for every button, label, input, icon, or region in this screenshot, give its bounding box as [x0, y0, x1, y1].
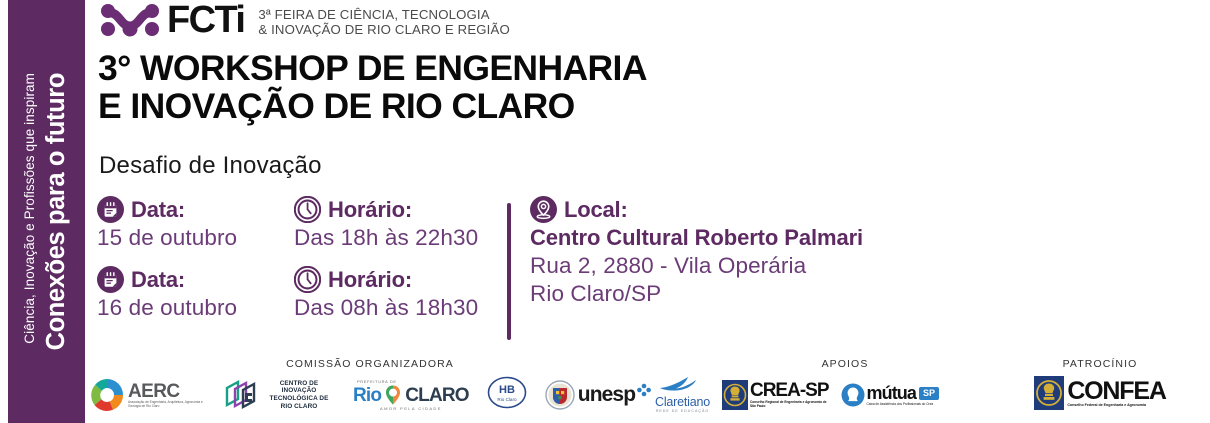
hb-mark-icon: HB Rio Claro [487, 376, 527, 409]
footer-logo-row: AERC Associação de Engenharia, Arquitetu… [85, 376, 655, 414]
mutua-wordmark: mútua [867, 384, 917, 402]
event-address: Rua 2, 2880 - Vila Operária [530, 253, 1050, 279]
brand-row: FCTi 3ª FEIRA DE CIÊNCIA, TECNOLOGIA & I… [99, 2, 510, 40]
mutua-sp-logo: mútua SP Caixa de Assistência dos Profis… [841, 383, 940, 407]
mutua-mark-icon [841, 383, 865, 407]
prefeitura-tagline: AMOR PELA CIDADE [353, 406, 469, 411]
footer-logo-row: CONFEA Conselho Federal de Engenharia e … [990, 376, 1210, 410]
event-time-block: Horário: Das 18h às 22h30 [294, 196, 509, 251]
event-location-column: Local: Centro Cultural Roberto Palmari R… [530, 196, 1050, 307]
footer-caption: PATROCÍNIO [990, 358, 1210, 370]
event-times-column: Horário: Das 18h às 22h30 Horário: Das 0… [294, 196, 509, 321]
claretiano-logo: Claretiano REDE DE EDUCAÇÃO [655, 376, 710, 414]
crea-sp-wordmark: CREA-SP [750, 382, 829, 400]
page-subtitle: Desafio de Inovação [99, 152, 322, 180]
svg-text:Rio Claro: Rio Claro [497, 397, 517, 402]
svg-text:HB: HB [499, 384, 515, 396]
fcti-tagline-line1: 3ª FEIRA DE CIÊNCIA, TECNOLOGIA [258, 7, 510, 22]
rio-claro-heart-drop-icon [382, 384, 404, 406]
event-date-block: Data: 16 de outubro [97, 266, 292, 321]
event-venue: Centro Cultural Roberto Palmari [530, 225, 1050, 251]
footer-logo-row: Claretiano REDE DE EDUCAÇÃO CREA-SP Cons [645, 376, 1045, 414]
event-time-header: Horário: [294, 196, 509, 223]
footer-section-supporters: APOIOS Claretiano REDE DE EDUCAÇÃO [645, 358, 1045, 414]
footer-logos: COMISSÃO ORGANIZADORA AERC Associação d [85, 358, 1210, 423]
aerc-logo: AERC Associação de Engenharia, Arquitetu… [89, 377, 208, 413]
calendar-icon [97, 266, 124, 293]
event-time-value: Das 08h às 18h30 [294, 295, 509, 321]
mutua-sp-badge: SP [919, 387, 939, 400]
event-location-header: Local: [530, 196, 1050, 223]
clock-icon [294, 196, 321, 223]
event-date-header: Data: [97, 266, 292, 293]
map-pin-icon [530, 196, 557, 223]
mutua-tagline: Caixa de Assistência dos Profissionais d… [867, 402, 940, 406]
hb-rio-claro-logo: HB Rio Claro [487, 376, 527, 414]
event-time-value: Das 18h às 22h30 [294, 225, 509, 251]
clock-icon [294, 266, 321, 293]
confea-wordmark: CONFEA [1067, 379, 1165, 403]
fcti-network-mark-icon [99, 4, 161, 38]
centro-inovacao-wordmark: CENTRO DE INOVAÇÃO TECNOLÓGICA DE RIO CL… [263, 380, 335, 410]
crea-sp-tagline: Conselho Regional de Engenharia e Agrono… [750, 400, 828, 408]
page-title-line1: 3° WORKSHOP DE ENGENHARIA [98, 49, 647, 87]
crea-sp-logo: CREA-SP Conselho Regional de Engenharia … [722, 380, 829, 410]
event-dates-column: Data: 15 de outubro [97, 196, 292, 321]
event-date-header: Data: [97, 196, 292, 223]
event-date-label: Data: [131, 197, 185, 223]
event-date-value: 16 de outubro [97, 295, 292, 321]
crea-crest-icon [722, 380, 748, 410]
aerc-wordmark: AERC [128, 383, 208, 400]
aerc-tagline: Associação de Engenharia, Arquitetura, A… [128, 400, 208, 408]
footer-caption: APOIOS [645, 358, 1045, 370]
event-date-value: 15 de outubro [97, 225, 292, 251]
confea-logo: CONFEA Conselho Federal de Engenharia e … [1034, 376, 1165, 410]
confea-crest-icon [1034, 376, 1064, 410]
event-time-block: Horário: Das 08h às 18h30 [294, 266, 509, 321]
event-time-label: Horário: [328, 197, 412, 223]
event-date-block: Data: 15 de outubro [97, 196, 292, 251]
claretiano-wordmark: Claretiano [655, 396, 710, 409]
fcti-wordmark-text: FCTi [167, 0, 244, 41]
fcti-tagline: 3ª FEIRA DE CIÊNCIA, TECNOLOGIA & INOVAÇ… [258, 5, 510, 37]
event-info: Data: 15 de outubro [97, 196, 1097, 346]
vertical-divider [507, 203, 511, 340]
prefeitura-rio-claro-logo: PREFEITURA DE Rio CLARO AMOR PELA CIDADE [353, 379, 469, 411]
claretiano-tagline: REDE DE EDUCAÇÃO [655, 409, 710, 414]
unesp-wordmark: unesp [578, 383, 635, 407]
sidebar-title: Conexões para o futuro [42, 73, 71, 350]
fcti-tagline-line2: & INOVAÇÃO DE RIO CLARO E REGIÃO [258, 22, 510, 37]
centro-inovacao-logo: CENTRO DE INOVAÇÃO TECNOLÓGICA DE RIO CL… [224, 379, 335, 412]
event-time-header: Horário: [294, 266, 509, 293]
sidebar-banner: Conexões para o futuro Ciência, Inovação… [8, 0, 85, 423]
event-time-label: Horário: [328, 267, 412, 293]
page-title: 3° WORKSHOP DE ENGENHARIA E INOVAÇÃO DE … [98, 49, 647, 125]
unesp-logo: unesp [545, 380, 652, 410]
fcti-wordmark: FCTi [167, 1, 244, 39]
centro-inovacao-mark-icon [224, 379, 260, 412]
event-city: Rio Claro/SP [530, 281, 1050, 307]
aerc-mark-icon [89, 377, 125, 413]
footer-section-organizers: COMISSÃO ORGANIZADORA AERC Associação d [85, 358, 655, 414]
footer-caption: COMISSÃO ORGANIZADORA [85, 358, 655, 370]
sidebar-subtitle: Ciência, Inovação e Profissões que inspi… [22, 73, 37, 350]
content-area: FCTi 3ª FEIRA DE CIÊNCIA, TECNOLOGIA & I… [85, 0, 1210, 423]
calendar-icon [97, 196, 124, 223]
footer-section-sponsor: PATROCÍNIO CONFEA Conselho Federal de En… [990, 358, 1210, 410]
page-title-line2: E INOVAÇÃO DE RIO CLARO [98, 87, 647, 125]
claretiano-bird-icon [656, 376, 708, 391]
event-date-label: Data: [131, 267, 185, 293]
event-location-label: Local: [564, 197, 628, 223]
unesp-crest-icon [545, 380, 575, 410]
